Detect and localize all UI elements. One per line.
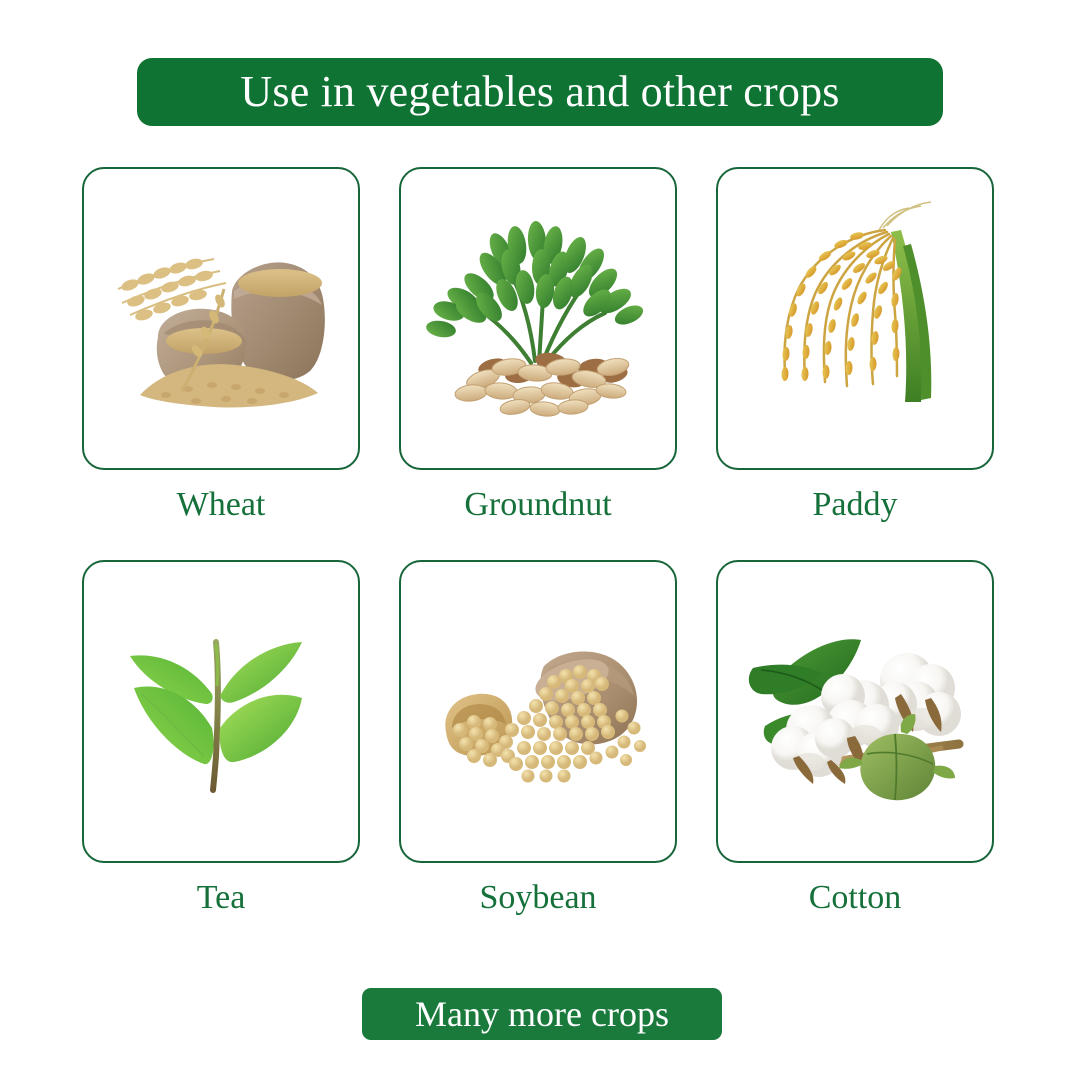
crop-cell-wheat[interactable]: Wheat [82,167,360,523]
crop-cell-soybean[interactable]: Soybean [399,560,677,916]
crop-label-wheat: Wheat [177,486,266,523]
crop-label-tea: Tea [197,879,246,916]
header-banner: Use in vegetables and other crops [137,58,943,126]
crop-label-paddy: Paddy [813,486,898,523]
crop-label-cotton: Cotton [809,879,902,916]
wheat-sack-icon [96,219,346,419]
crop-label-soybean: Soybean [479,879,596,916]
crop-grid: Wheat [82,167,1002,917]
crop-cell-groundnut[interactable]: Groundnut [399,167,677,523]
crop-cell-paddy[interactable]: Paddy [716,167,994,523]
cotton-boll-icon [735,614,975,809]
crop-cell-cotton[interactable]: Cotton [716,560,994,916]
paddy-rice-icon [745,196,965,441]
crop-cell-tea[interactable]: Tea [82,560,360,916]
footer-title: Many more crops [415,996,669,1032]
crop-card-tea[interactable] [82,560,360,863]
crop-card-paddy[interactable] [716,167,994,470]
crop-usage-infographic: Use in vegetables and other crops [0,0,1080,1080]
crop-label-groundnut: Groundnut [464,486,611,523]
crop-card-wheat[interactable] [82,167,360,470]
crop-card-cotton[interactable] [716,560,994,863]
tea-leaf-icon [104,624,339,799]
header-title: Use in vegetables and other crops [240,70,839,114]
groundnut-plant-icon [423,211,653,426]
footer-banner: Many more crops [362,988,722,1040]
soybean-sack-icon [416,624,661,799]
crop-card-groundnut[interactable] [399,167,677,470]
crop-card-soybean[interactable] [399,560,677,863]
